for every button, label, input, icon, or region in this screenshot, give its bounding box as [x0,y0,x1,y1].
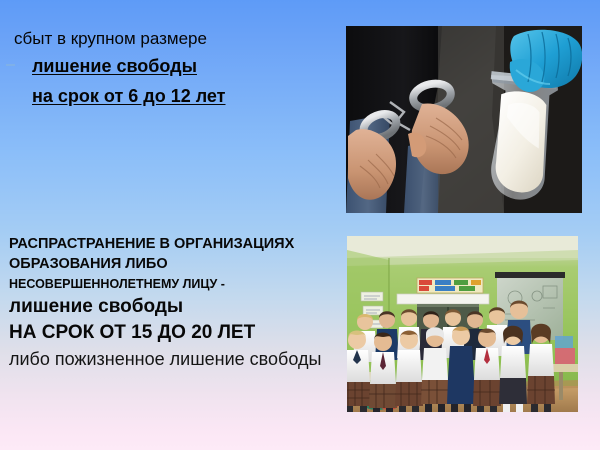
bottom-line-education-or: ОБРАЗОВАНИЯ ЛИБО [0,254,360,274]
top-line-sale-large-scale: сбыт в крупном размере [0,26,345,52]
bottom-line-term-15-to-20-years: НА СРОК ОТ 15 ДО 20 ЛЕТ [0,320,360,346]
bottom-line-distribution-in-organizations: РАСПРАСТРАНЕНИЕ В ОРГАНИЗАЦИЯХ [0,234,360,254]
bottom-line-or-life-imprisonment: либо пожизненное лишение свободы [0,346,360,372]
bottom-line-to-a-minor: НЕСОВЕРШЕННОЛЕТНЕМУ ЛИЦУ - [0,274,360,294]
slide-canvas: сбыт в крупном размере лишение свободы н… [0,0,600,450]
schoolchildren-in-classroom-photo [347,236,578,412]
handcuffed-person-with-drug-bag-photo [346,26,582,213]
school-photo-graphic [347,236,578,412]
arrest-photo-graphic [346,26,582,213]
top-bullet-row-imprisonment: лишение свободы [0,52,345,82]
bottom-line-imprisonment: лишение свободы [0,294,360,320]
top-term-row: на срок от 6 до 12 лет [0,82,345,112]
bottom-text-block: РАСПРАСТРАНЕНИЕ В ОРГАНИЗАЦИЯХ ОБРАЗОВАН… [0,234,360,372]
top-line-term-6-to-12-years: на срок от 6 до 12 лет [32,86,226,106]
bullet-dash-icon [6,64,15,66]
top-text-block: сбыт в крупном размере лишение свободы н… [0,26,345,112]
top-line-imprisonment: лишение свободы [32,56,197,76]
